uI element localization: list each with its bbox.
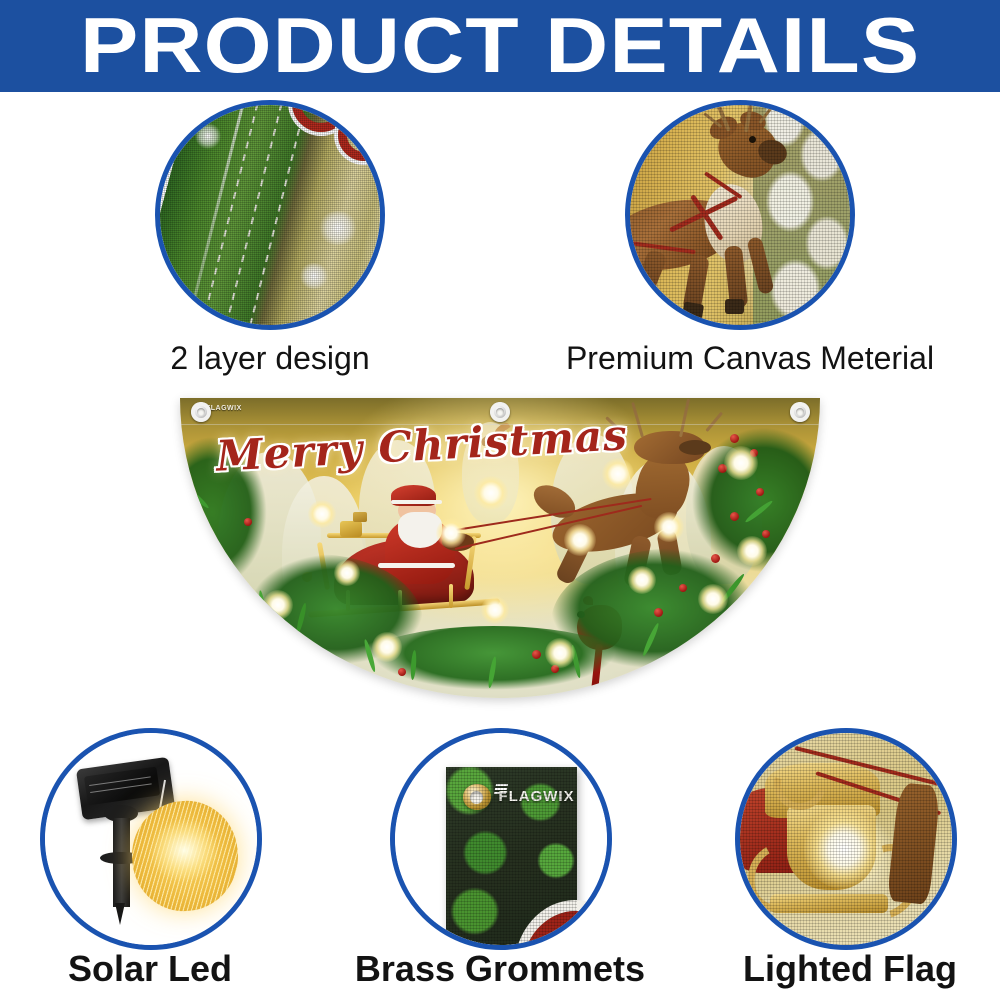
feature-image-lighted-flag <box>735 728 957 950</box>
feature-image-two-layer-design <box>155 100 385 330</box>
brass-grommet <box>463 784 491 809</box>
flagwix-logo-text: FLAGWIX <box>498 788 574 805</box>
feature-image-brass-grommets: FLAGWIX <box>390 728 612 950</box>
caption-brass-grommets: Brass Grommets <box>340 948 660 990</box>
infographic-canvas: PRODUCT DETAILS 2 layer design <box>0 0 1000 1000</box>
grommet-center <box>490 402 510 422</box>
glowing-sleigh-closeup-icon <box>740 733 952 945</box>
flag-brand-logo: FLAGWIX <box>206 405 242 412</box>
feature-image-solar-led <box>40 728 262 950</box>
grommet-right <box>790 402 810 422</box>
product-flag-image: FLAGWIX Merry Christmas <box>180 398 820 710</box>
grommet-left <box>191 402 211 422</box>
header-banner: PRODUCT DETAILS <box>0 0 1000 92</box>
canvas-edge-two-layer-icon <box>160 105 380 325</box>
feature-image-premium-canvas <box>625 100 855 330</box>
caption-lighted-flag: Lighted Flag <box>720 948 980 990</box>
caption-solar-led: Solar Led <box>20 948 280 990</box>
solar-panel-fairy-lights-icon <box>45 733 257 945</box>
brass-grommet-corner-icon: FLAGWIX <box>395 733 607 945</box>
reindeer-canvas-weave-icon <box>630 105 850 325</box>
flag-semicircle: FLAGWIX Merry Christmas <box>180 398 820 698</box>
page-title: PRODUCT DETAILS <box>80 6 920 84</box>
